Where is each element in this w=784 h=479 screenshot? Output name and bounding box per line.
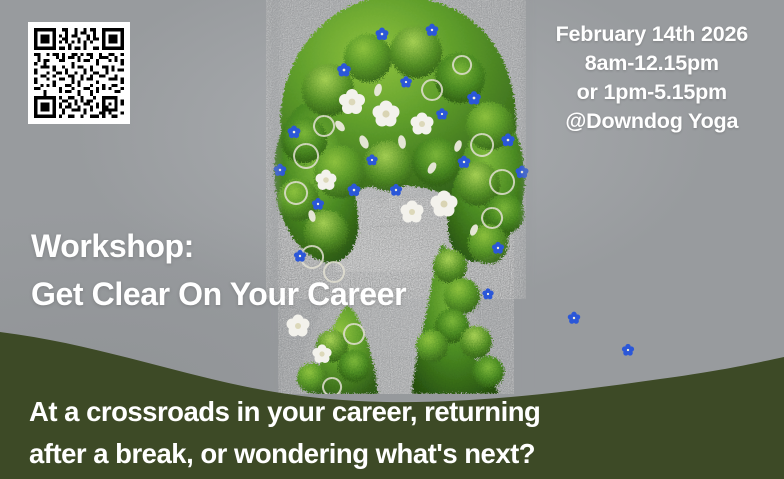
tagline-line-2: after a break, or wondering what's next?	[29, 433, 540, 475]
qr-code[interactable]	[28, 22, 130, 124]
page-title: Workshop: Get Clear On Your Career	[31, 222, 406, 318]
tagline-line-1: At a crossroads in your career, returnin…	[29, 391, 540, 433]
event-time-morning: 8am-12.15pm	[556, 49, 748, 78]
headline-line-2: Get Clear On Your Career	[31, 270, 406, 318]
event-date: February 14th 2026	[556, 20, 748, 49]
poster-canvas: February 14th 2026 8am-12.15pm or 1pm-5.…	[0, 0, 784, 479]
event-venue: @Downdog Yoga	[556, 107, 748, 136]
headline-line-1: Workshop:	[31, 222, 406, 270]
event-time-afternoon: or 1pm-5.15pm	[556, 78, 748, 107]
tagline: At a crossroads in your career, returnin…	[29, 391, 540, 475]
event-details: February 14th 2026 8am-12.15pm or 1pm-5.…	[556, 20, 748, 136]
